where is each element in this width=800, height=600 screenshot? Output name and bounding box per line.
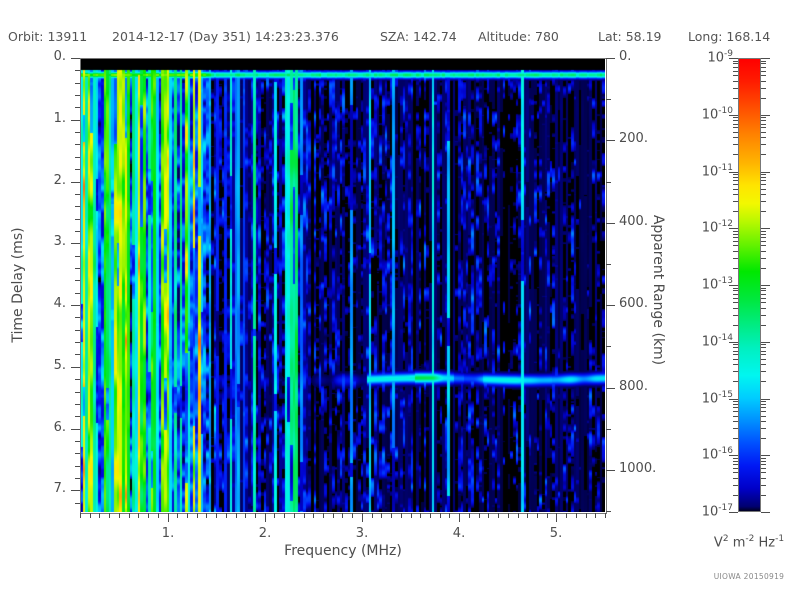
colorbar-tick-major: [761, 228, 770, 229]
y-right-tick-label: 1000.: [619, 461, 656, 476]
colorbar-tick-minor: [761, 127, 766, 128]
y-left-tick-minor: [75, 157, 80, 158]
x-tick-minor: [411, 513, 412, 518]
y-right-tick-major: [606, 140, 615, 141]
colorbar-tick-minor: [761, 411, 766, 412]
y-left-tick-label: 7.: [0, 481, 66, 496]
colorbar-tick-minor: [761, 268, 766, 269]
x-axis-label: Frequency (MHz): [284, 543, 402, 559]
colorbar-tick-minor: [733, 421, 738, 422]
colorbar-tick-minor: [733, 268, 738, 269]
y-left-tick-minor: [75, 231, 80, 232]
y-left-tick-major: [71, 305, 80, 306]
x-tick-minor: [479, 513, 480, 518]
x-tick-minor: [158, 513, 159, 518]
colorbar-unit-label: V2 m-2 Hz-1: [714, 534, 784, 550]
ionogram-figure: Orbit: 13911 2014-12-17 (Day 351) 14:23:…: [0, 0, 800, 600]
colorbar-tick-minor: [733, 464, 738, 465]
figure-credit: UIOWA 20150919: [714, 572, 785, 581]
colorbar-tick-minor: [733, 127, 738, 128]
y-left-tick-major: [71, 58, 80, 59]
y-left-tick-minor: [75, 453, 80, 454]
colorbar-tick-minor: [733, 75, 738, 76]
y-left-tick-minor: [75, 317, 80, 318]
x-tick-minor: [206, 513, 207, 518]
y-right-tick-minor: [606, 264, 611, 265]
y-left-tick-minor: [75, 83, 80, 84]
colorbar-tick-minor: [733, 347, 738, 348]
y-right-tick-major: [606, 388, 615, 389]
x-tick-minor: [401, 513, 402, 518]
x-tick-minor: [498, 513, 499, 518]
colorbar-tick-minor: [761, 302, 766, 303]
colorbar-tick-minor: [733, 132, 738, 133]
colorbar-tick-minor: [761, 344, 766, 345]
colorbar-tick-minor: [733, 231, 738, 232]
colorbar-ticks-right: [761, 58, 775, 512]
colorbar-tick-minor: [733, 468, 738, 469]
colorbar-tick-minor: [761, 174, 766, 175]
colorbar-tick-minor: [761, 237, 766, 238]
colorbar-tick-minor: [761, 364, 766, 365]
x-tick-minor: [576, 513, 577, 518]
x-tick-minor: [90, 513, 91, 518]
x-tick-minor: [352, 513, 353, 518]
y-right-tick-minor: [606, 429, 611, 430]
x-tick-minor: [80, 513, 81, 518]
colorbar-tick-minor: [733, 364, 738, 365]
x-tick-minor: [284, 513, 285, 518]
colorbar-tick-minor: [761, 294, 766, 295]
colorbar-tick-minor: [761, 371, 766, 372]
y-left-tick-major: [71, 429, 80, 430]
colorbar-tick-minor: [761, 234, 766, 235]
colorbar-tick-minor: [761, 347, 766, 348]
y-left-tick-minor: [75, 206, 80, 207]
x-tick-minor: [595, 513, 596, 518]
x-tick-minor: [488, 513, 489, 518]
colorbar-tick-minor: [733, 234, 738, 235]
colorbar-tick-minor: [733, 67, 738, 68]
colorbar-tick-major: [761, 342, 770, 343]
y-right-tick-major: [606, 470, 615, 471]
x-tick-minor: [138, 513, 139, 518]
y-left-tick-minor: [75, 503, 80, 504]
x-tick-minor: [566, 513, 567, 518]
x-tick-major: [265, 513, 266, 522]
y-left-tick-minor: [75, 256, 80, 257]
y-left-tick-minor: [75, 441, 80, 442]
colorbar-tick-major: [729, 512, 738, 513]
colorbar-label-mantissa: 10: [702, 164, 719, 179]
y-left-tick-minor: [75, 330, 80, 331]
colorbar-tick-minor: [761, 245, 766, 246]
colorbar-tick-minor: [733, 120, 738, 121]
header-sza: SZA: 142.74: [380, 29, 457, 44]
colorbar-tick-minor: [733, 180, 738, 181]
spectrogram-image: [80, 58, 605, 512]
colorbar-tick-minor: [733, 344, 738, 345]
colorbar-tick-minor: [733, 154, 738, 155]
x-tick-minor: [274, 513, 275, 518]
colorbar-tick-minor: [761, 251, 766, 252]
colorbar-tick-minor: [761, 298, 766, 299]
colorbar-tick-major: [729, 342, 738, 343]
colorbar-tick-minor: [761, 401, 766, 402]
y-right-tick-label: 200.: [619, 131, 648, 146]
header-datetime: 2014-12-17 (Day 351) 14:23:23.376: [112, 29, 339, 44]
colorbar-tick-minor: [761, 351, 766, 352]
colorbar-tick-major: [761, 115, 770, 116]
y-left-tick-minor: [75, 169, 80, 170]
x-tick-minor: [245, 513, 246, 518]
colorbar-tick-minor: [733, 438, 738, 439]
colorbar-tick-minor: [761, 458, 766, 459]
y-left-tick-minor: [75, 293, 80, 294]
colorbar-tick-minor: [733, 416, 738, 417]
x-tick-minor: [99, 513, 100, 518]
x-tick-minor: [109, 513, 110, 518]
x-tick-minor: [216, 513, 217, 518]
y-left-tick-label: 5.: [0, 358, 66, 373]
colorbar-tick-minor: [733, 124, 738, 125]
colorbar-unit-v: V: [714, 535, 723, 550]
y-right-tick-major: [606, 58, 615, 59]
y-left-tick-label: 0.: [0, 49, 66, 64]
colorbar-tick-minor: [733, 177, 738, 178]
y-left-tick-minor: [75, 404, 80, 405]
colorbar-tick-minor: [761, 154, 766, 155]
colorbar-tick-minor: [733, 485, 738, 486]
y-left-tick-minor: [75, 354, 80, 355]
colorbar-tick-minor: [733, 478, 738, 479]
y-right-tick-major: [606, 223, 615, 224]
colorbar-tick-minor: [733, 81, 738, 82]
x-tick-label: 5.: [550, 526, 562, 541]
x-tick-minor: [119, 513, 120, 518]
colorbar-tick-minor: [733, 407, 738, 408]
colorbar-tick-minor: [733, 381, 738, 382]
x-tick-minor: [323, 513, 324, 518]
colorbar-tick-minor: [761, 428, 766, 429]
x-tick-minor: [236, 513, 237, 518]
spectrogram-canvas: [80, 58, 605, 512]
colorbar-tick-minor: [733, 88, 738, 89]
colorbar-tick-minor: [761, 132, 766, 133]
y-left-tick-label: 6.: [0, 420, 66, 435]
colorbar-tick-minor: [761, 67, 766, 68]
colorbar-tick-major: [761, 172, 770, 173]
colorbar-ticks-left: [724, 58, 738, 512]
colorbar-tick-minor: [761, 464, 766, 465]
spectrogram-panel[interactable]: [80, 58, 605, 512]
colorbar-tick-minor: [733, 288, 738, 289]
colorbar-tick-minor: [761, 120, 766, 121]
x-tick-minor: [333, 513, 334, 518]
y-right-tick-label: 600.: [619, 296, 648, 311]
x-tick-label: 2.: [259, 526, 271, 541]
x-tick-minor: [440, 513, 441, 518]
colorbar-tick-minor: [761, 194, 766, 195]
x-tick-minor: [226, 513, 227, 518]
colorbar-tick-minor: [761, 81, 766, 82]
colorbar-tick-minor: [761, 177, 766, 178]
x-tick-major: [459, 513, 460, 522]
colorbar-tick-minor: [761, 468, 766, 469]
x-axis-frequency: 1.2.3.4.5.: [0, 512, 800, 572]
colorbar-tick-minor: [733, 401, 738, 402]
colorbar-label-mantissa: 10: [702, 447, 719, 462]
x-tick-minor: [342, 513, 343, 518]
y-left-tick-minor: [75, 144, 80, 145]
colorbar-tick-minor: [733, 354, 738, 355]
colorbar-label-mantissa: 10: [702, 220, 719, 235]
colorbar-tick-minor: [761, 61, 766, 62]
colorbar-tick-minor: [761, 416, 766, 417]
colorbar-tick-minor: [733, 461, 738, 462]
colorbar[interactable]: [738, 58, 761, 512]
x-tick-minor: [430, 513, 431, 518]
colorbar-tick-minor: [761, 354, 766, 355]
colorbar-tick-minor: [733, 298, 738, 299]
colorbar-tick-minor: [761, 144, 766, 145]
colorbar-tick-minor: [733, 184, 738, 185]
colorbar-tick-minor: [733, 201, 738, 202]
x-tick-minor: [304, 513, 305, 518]
colorbar-tick-minor: [733, 251, 738, 252]
y-right-tick-minor: [606, 182, 611, 183]
colorbar-tick-minor: [761, 308, 766, 309]
colorbar-tick-minor: [761, 359, 766, 360]
colorbar-tick-major: [729, 399, 738, 400]
x-tick-label: 4.: [453, 526, 465, 541]
colorbar-tick-minor: [733, 315, 738, 316]
colorbar-tick-minor: [761, 258, 766, 259]
y-left-tick-minor: [75, 416, 80, 417]
y-left-tick-minor: [75, 107, 80, 108]
y-right-tick-minor: [606, 346, 611, 347]
colorbar-tick-minor: [733, 241, 738, 242]
colorbar-tick-minor: [733, 294, 738, 295]
y-left-tick-major: [71, 243, 80, 244]
colorbar-tick-minor: [733, 359, 738, 360]
colorbar-label-mantissa: 10: [702, 391, 719, 406]
header-altitude: Altitude: 780: [478, 29, 559, 44]
y-left-tick-minor: [75, 342, 80, 343]
colorbar-tick-minor: [733, 245, 738, 246]
colorbar-tick-minor: [733, 63, 738, 64]
colorbar-tick-minor: [733, 189, 738, 190]
colorbar-tick-minor: [733, 174, 738, 175]
x-tick-minor: [313, 513, 314, 518]
colorbar-tick-minor: [761, 124, 766, 125]
colorbar-tick-major: [729, 285, 738, 286]
header-longitude: Long: 168.14: [688, 29, 770, 44]
colorbar-tick-minor: [761, 71, 766, 72]
x-tick-major: [362, 513, 363, 522]
colorbar-tick-minor: [761, 404, 766, 405]
colorbar-tick-minor: [733, 71, 738, 72]
colorbar-tick-major: [729, 58, 738, 59]
colorbar-tick-minor: [761, 189, 766, 190]
y-left-tick-minor: [75, 95, 80, 96]
x-tick-minor: [518, 513, 519, 518]
colorbar-tick-minor: [761, 407, 766, 408]
x-tick-minor: [420, 513, 421, 518]
colorbar-tick-major: [761, 399, 770, 400]
colorbar-tick-minor: [733, 404, 738, 405]
x-tick-minor: [372, 513, 373, 518]
colorbar-label-mantissa: 10: [702, 107, 719, 122]
colorbar-tick-minor: [761, 98, 766, 99]
x-tick-minor: [547, 513, 548, 518]
colorbar-tick-minor: [733, 137, 738, 138]
colorbar-tick-minor: [733, 458, 738, 459]
y-right-tick-minor: [606, 99, 611, 100]
colorbar-unit-hz-exp: -1: [775, 534, 784, 544]
x-tick-minor: [177, 513, 178, 518]
x-tick-minor: [527, 513, 528, 518]
colorbar-unit-hz: Hz: [754, 535, 775, 550]
colorbar-tick-minor: [733, 117, 738, 118]
x-tick-minor: [508, 513, 509, 518]
colorbar-tick-minor: [761, 485, 766, 486]
x-tick-minor: [381, 513, 382, 518]
x-tick-minor: [391, 513, 392, 518]
x-tick-minor: [148, 513, 149, 518]
colorbar-tick-major: [761, 285, 770, 286]
colorbar-tick-minor: [733, 302, 738, 303]
colorbar-unit-m: m: [729, 535, 746, 550]
colorbar-tick-minor: [761, 117, 766, 118]
x-tick-minor: [469, 513, 470, 518]
x-tick-minor: [187, 513, 188, 518]
colorbar-tick-minor: [761, 461, 766, 462]
x-tick-minor: [449, 513, 450, 518]
x-tick-label: 3.: [356, 526, 368, 541]
y-left-tick-label: 2.: [0, 173, 66, 188]
y-left-tick-major: [71, 120, 80, 121]
x-tick-minor: [255, 513, 256, 518]
colorbar-tick-minor: [761, 438, 766, 439]
colorbar-tick-minor: [733, 98, 738, 99]
colorbar-label-mantissa: 10: [702, 277, 719, 292]
x-tick-minor: [197, 513, 198, 518]
colorbar-tick-minor: [761, 421, 766, 422]
y-left-tick-major: [71, 490, 80, 491]
colorbar-tick-minor: [761, 75, 766, 76]
colorbar-tick-minor: [733, 308, 738, 309]
y-right-tick-major: [606, 305, 615, 306]
y-right-tick-label: 800.: [619, 379, 648, 394]
x-tick-major: [168, 513, 169, 522]
colorbar-tick-minor: [733, 290, 738, 291]
y-left-tick-major: [71, 367, 80, 368]
y-left-tick-minor: [75, 478, 80, 479]
y-left-tick-minor: [75, 280, 80, 281]
colorbar-tick-minor: [733, 144, 738, 145]
x-tick-minor: [294, 513, 295, 518]
colorbar-tick-minor: [761, 290, 766, 291]
colorbar-tick-major: [729, 115, 738, 116]
y-left-tick-minor: [75, 379, 80, 380]
colorbar-tick-minor: [761, 241, 766, 242]
colorbar-tick-minor: [733, 211, 738, 212]
x-tick-major: [556, 513, 557, 522]
colorbar-tick-minor: [761, 315, 766, 316]
colorbar-tick-minor: [733, 61, 738, 62]
colorbar-tick-minor: [733, 472, 738, 473]
y-left-tick-minor: [75, 219, 80, 220]
colorbar-tick-major: [729, 228, 738, 229]
y-left-tick-minor: [75, 392, 80, 393]
y-left-tick-minor: [75, 466, 80, 467]
y-left-tick-label: 1.: [0, 111, 66, 126]
y-left-tick-minor: [75, 268, 80, 269]
colorbar-tick-minor: [761, 180, 766, 181]
colorbar-tick-minor: [761, 211, 766, 212]
colorbar-tick-minor: [761, 231, 766, 232]
y-left-tick-minor: [75, 194, 80, 195]
x-tick-minor: [537, 513, 538, 518]
colorbar-tick-major: [761, 512, 770, 513]
colorbar-tick-minor: [733, 411, 738, 412]
colorbar-tick-minor: [761, 137, 766, 138]
x-tick-minor: [605, 513, 606, 518]
colorbar-tick-minor: [761, 288, 766, 289]
x-tick-minor: [129, 513, 130, 518]
colorbar-tick-minor: [733, 258, 738, 259]
colorbar-tick-minor: [733, 237, 738, 238]
colorbar-tick-minor: [761, 184, 766, 185]
colorbar-tick-minor: [733, 351, 738, 352]
colorbar-tick-minor: [733, 428, 738, 429]
colorbar-gradient: [738, 58, 761, 512]
y-left-tick-minor: [75, 132, 80, 133]
y-axis-left-label: Time Delay (ms): [10, 227, 26, 342]
colorbar-tick-minor: [761, 381, 766, 382]
colorbar-label-mantissa: 10: [707, 50, 724, 65]
y-right-tick-label: 0.: [619, 49, 631, 64]
colorbar-tick-minor: [761, 63, 766, 64]
colorbar-tick-major: [761, 58, 770, 59]
x-tick-label: 1.: [162, 526, 174, 541]
y-right-tick-label: 400.: [619, 214, 648, 229]
colorbar-tick-major: [761, 455, 770, 456]
colorbar-tick-minor: [761, 325, 766, 326]
colorbar-tick-minor: [733, 495, 738, 496]
colorbar-tick-minor: [733, 371, 738, 372]
colorbar-tick-minor: [761, 495, 766, 496]
y-axis-right-label: Apparent Range (km): [650, 215, 666, 365]
y-left-tick-minor: [75, 70, 80, 71]
colorbar-tick-major: [729, 455, 738, 456]
colorbar-tick-minor: [761, 478, 766, 479]
colorbar-tick-minor: [733, 194, 738, 195]
colorbar-label-mantissa: 10: [702, 334, 719, 349]
colorbar-tick-major: [729, 172, 738, 173]
x-tick-minor: [586, 513, 587, 518]
colorbar-tick-minor: [761, 472, 766, 473]
y-left-tick-major: [71, 182, 80, 183]
colorbar-tick-minor: [733, 325, 738, 326]
colorbar-tick-minor: [761, 88, 766, 89]
colorbar-tick-minor: [761, 201, 766, 202]
